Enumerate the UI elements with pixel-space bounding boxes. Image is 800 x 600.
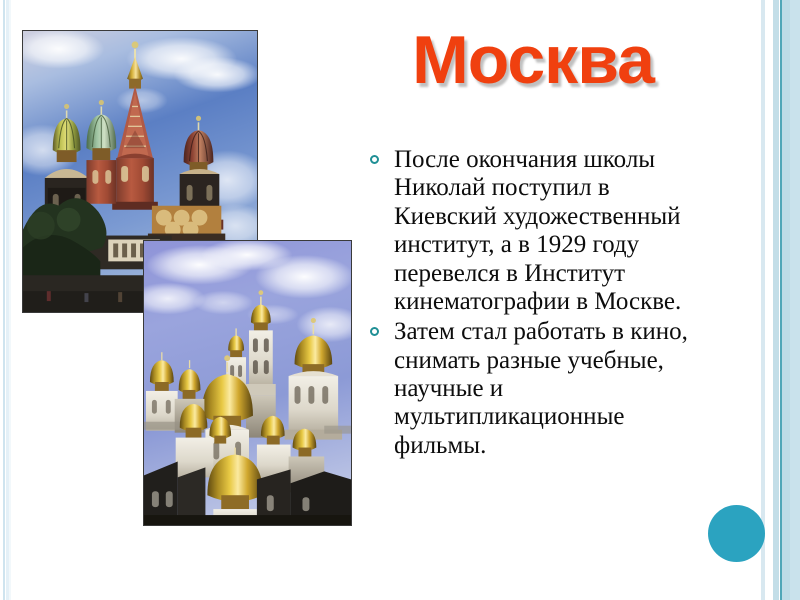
right-stripe-5 xyxy=(782,0,790,600)
left-stripe-band xyxy=(0,0,14,600)
right-stripe-6 xyxy=(790,0,800,600)
bullet-circle-icon xyxy=(370,327,379,336)
bullet-text: Затем стал работать в кино, снимать разн… xyxy=(394,318,688,459)
bullet-circle-icon xyxy=(370,155,379,164)
list-item: После окончания школы Николай поступил в… xyxy=(368,146,693,316)
presentation-slide: Москва После окончания школы Николай пос… xyxy=(0,0,800,600)
left-stripe-3 xyxy=(9,0,11,600)
list-item: Затем стал работать в кино, снимать разн… xyxy=(368,318,693,460)
right-stripe-3 xyxy=(773,0,779,600)
bullet-text: После окончания школы Николай поступил в… xyxy=(394,146,681,315)
teal-circle-decoration xyxy=(708,505,765,562)
left-stripe-1 xyxy=(3,0,5,600)
moscow-kremlin-cathedrals-photo xyxy=(143,240,352,526)
slide-bullet-list: После окончания школы Николай поступил в… xyxy=(368,146,693,462)
right-stripe-band xyxy=(758,0,800,600)
slide-title: Москва xyxy=(368,26,698,94)
right-stripe-1 xyxy=(761,0,765,600)
kremlin-illustration xyxy=(144,241,351,525)
